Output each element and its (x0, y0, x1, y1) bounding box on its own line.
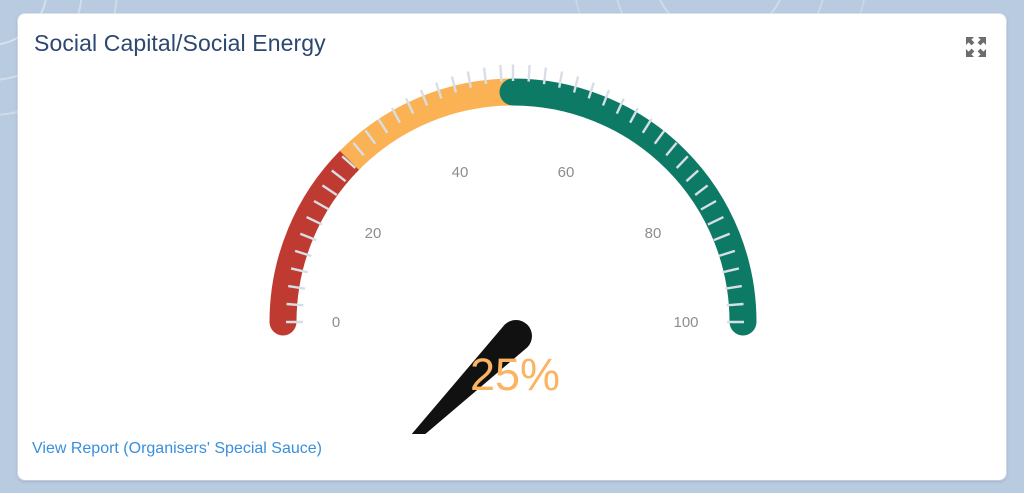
gauge-tick-labels: 0 20 40 60 80 100 (332, 164, 699, 331)
gauge-card: Social Capital/Social Energy (18, 14, 1006, 480)
gauge-tick-label-100: 100 (673, 314, 698, 331)
gauge-tick-label-0: 0 (332, 314, 340, 331)
view-report-link[interactable]: View Report (Organisers' Special Sauce) (32, 440, 322, 458)
gauge-bands (283, 92, 743, 322)
gauge-value-label: 25% (470, 349, 560, 400)
gauge-band-high (513, 92, 743, 322)
gauge-tick-label-80: 80 (645, 225, 662, 242)
gauge-tick-label-40: 40 (452, 164, 469, 181)
gauge-tick-label-20: 20 (365, 225, 382, 242)
gauge-svg: 0 20 40 60 80 100 25% (18, 14, 1006, 434)
gauge-band-medium (349, 92, 513, 160)
gauge-chart: 0 20 40 60 80 100 25% (18, 14, 1006, 434)
gauge-band-low (283, 159, 350, 322)
gauge-tick-label-60: 60 (558, 164, 575, 181)
